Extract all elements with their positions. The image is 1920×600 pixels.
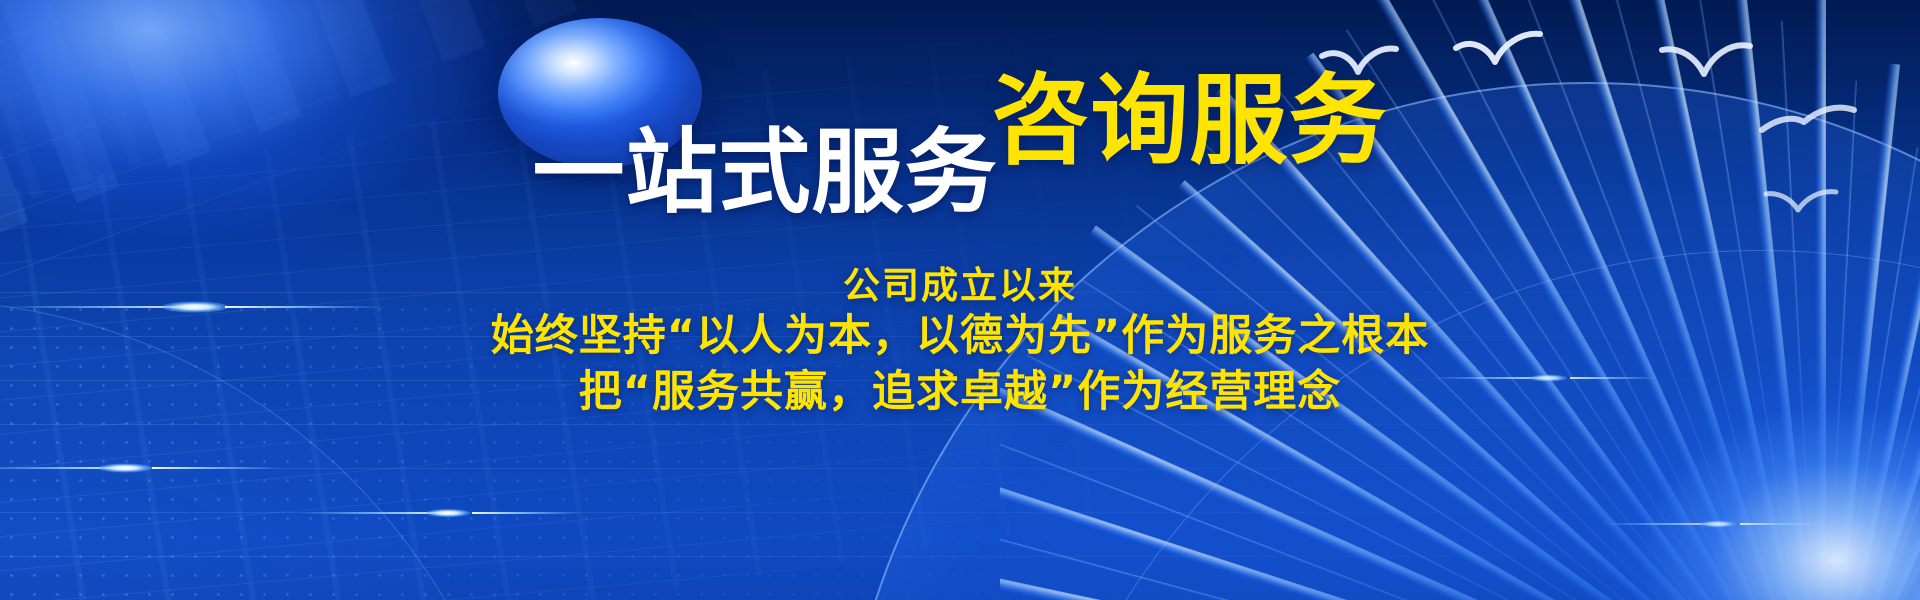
headline-accent-text: 咨询服务 [992,72,1388,170]
promotional-banner: 一站式服务咨询服务 公司成立以来 始终坚持“以人为本，以德为先”作为服务之根本 … [0,0,1920,600]
subtext-block: 公司成立以来 始终坚持“以人为本，以德为先”作为服务之根本 把“服务共赢，追求卓… [0,262,1920,421]
subtext-line: 始终坚持“以人为本，以德为先”作为服务之根本 [0,309,1920,365]
banner-content: 一站式服务咨询服务 公司成立以来 始终坚持“以人为本，以德为先”作为服务之根本 … [0,0,1920,600]
subtext-line: 公司成立以来 [0,262,1920,309]
headline-primary-text: 一站式服务 [532,127,997,219]
headline: 一站式服务咨询服务 [0,78,1920,176]
subtext-line: 把“服务共赢，追求卓越”作为经营理念 [0,365,1920,421]
